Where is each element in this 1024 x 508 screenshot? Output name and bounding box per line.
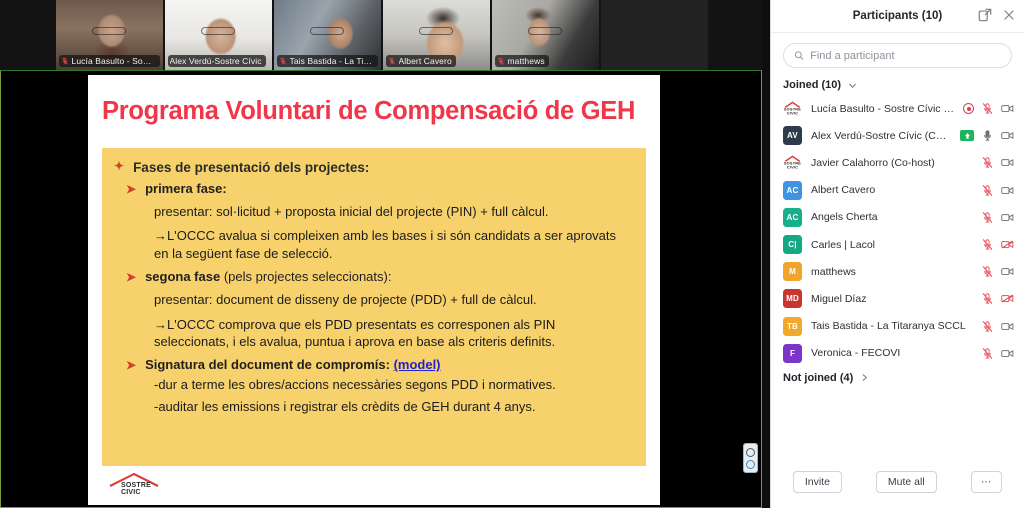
participant-row[interactable]: ACAngels Cherta	[771, 204, 1024, 231]
face-overlay	[310, 27, 344, 35]
slide-subbullet-phase1: ➤ primera fase:	[126, 181, 638, 196]
camera-off-icon[interactable]	[1001, 184, 1014, 197]
logo-text: SOSTRE CIVIC	[121, 482, 151, 497]
mic-muted-icon[interactable]	[981, 265, 994, 278]
participant-controls[interactable]	[981, 265, 1014, 278]
zoom-meeting-window: Lucía Basulto - Sostre …Alex Verdú-Sostr…	[0, 0, 1024, 508]
participant-row[interactable]: TBTais Bastida - La Titaranya SCCL	[771, 313, 1024, 340]
participant-name: Javier Calahorro (Co-host)	[811, 157, 972, 169]
annotate-pointer-icon[interactable]	[746, 448, 755, 457]
camera-off-icon[interactable]	[1001, 156, 1014, 169]
avatar: AC	[783, 208, 802, 227]
avatar-initials: AV	[787, 131, 798, 140]
video-tile[interactable]: Albert Cavero	[383, 0, 490, 70]
model-document-link[interactable]: (model)	[394, 357, 441, 372]
invite-button[interactable]: Invite	[793, 471, 842, 493]
avatar: C|	[783, 235, 802, 254]
tile-participant-name: Alex Verdú-Sostre Cívic	[170, 56, 262, 66]
participant-name: Tais Bastida - La Titaranya SCCL	[811, 320, 972, 332]
tile-name-badge: Lucía Basulto - Sostre …	[59, 55, 160, 67]
mic-on-icon[interactable]	[981, 129, 994, 142]
avatar: SOSTRECIVIC	[783, 99, 802, 118]
participant-row[interactable]: SOSTRECIVICLucía Basulto - Sostre Cívic …	[771, 95, 1024, 122]
participant-controls[interactable]	[981, 156, 1014, 169]
svg-text:CIVIC: CIVIC	[787, 110, 798, 115]
participant-name: Carles | Lacol	[811, 239, 972, 251]
tile-name-badge: Alex Verdú-Sostre Cívic	[168, 55, 266, 67]
mic-muted-icon[interactable]	[981, 102, 994, 115]
participant-name: matthews	[811, 266, 972, 278]
not-joined-label: Not joined (4)	[783, 372, 853, 384]
participant-row[interactable]: FVeronica - FECOVI	[771, 340, 1024, 367]
camera-off-icon[interactable]	[1001, 211, 1014, 224]
joined-label: Joined (10)	[783, 79, 841, 91]
avatar-initials: F	[790, 349, 795, 358]
face-overlay	[201, 27, 235, 35]
search-section	[771, 33, 1024, 74]
participant-name: Albert Cavero	[811, 184, 972, 196]
tile-name-badge: matthews	[495, 55, 549, 67]
joined-section-header[interactable]: Joined (10)	[771, 74, 1024, 95]
avatar-initials: AC	[787, 186, 799, 195]
tile-participant-name: matthews	[508, 56, 545, 66]
tile-participant-name: Lucía Basulto - Sostre …	[72, 56, 156, 66]
video-tile-partial[interactable]	[601, 0, 708, 70]
sostre-civic-avatar-logo: SOSTRECIVIC	[783, 99, 802, 118]
participant-controls[interactable]	[981, 320, 1014, 333]
avatar-initials: TB	[787, 322, 798, 331]
participant-name: Veronica - FECOVI	[811, 347, 972, 359]
phase1-paragraph-2: →L'OCCC avalua si compleixen amb les bas…	[154, 227, 626, 262]
participant-name: Alex Verdú-Sostre Cívic (Co-host)	[811, 130, 951, 142]
tile-participant-name: Tais Bastida - La Titara…	[290, 56, 374, 66]
tile-participant-name: Albert Cavero	[399, 56, 452, 66]
camera-off-icon[interactable]	[1001, 129, 1014, 142]
participant-name: Lucía Basulto - Sostre Cívic (Host, me)	[811, 103, 954, 115]
participant-name: Miguel Díaz	[811, 293, 972, 305]
participants-panel: Participants (10)	[770, 0, 1024, 508]
mic-muted-icon[interactable]	[981, 238, 994, 251]
participant-row[interactable]: C|Carles | Lacol	[771, 231, 1024, 258]
mic-muted-icon[interactable]	[981, 292, 994, 305]
avatar-initials: C|	[788, 240, 796, 249]
mic-muted-icon[interactable]	[981, 320, 994, 333]
participant-controls[interactable]	[960, 129, 1014, 142]
mic-muted-icon[interactable]	[981, 347, 994, 360]
face-overlay	[92, 27, 126, 35]
phase1-paragraph-1: presentar: sol·licitud + proposta inicia…	[154, 203, 626, 220]
svg-text:CIVIC: CIVIC	[787, 165, 798, 170]
participants-panel-header: Participants (10)	[771, 0, 1024, 33]
avatar: AC	[783, 181, 802, 200]
slide-content-box: ✦ Fases de presentació dels projectes: ➤…	[102, 148, 646, 466]
phase3-paragraph-1: -dur a terme les obres/accions necessàri…	[154, 376, 626, 393]
presentation-slide: Programa Voluntari de Compensació de GEH…	[88, 75, 660, 505]
slide-heading-text: Fases de presentació dels projectes:	[133, 160, 369, 175]
participant-row[interactable]: Mmatthews	[771, 258, 1024, 285]
avatar: SOSTRECIVIC	[783, 153, 802, 172]
participant-row[interactable]: ACAlbert Cavero	[771, 177, 1024, 204]
chevron-right-icon[interactable]	[860, 373, 869, 382]
video-tile[interactable]: Alex Verdú-Sostre Cívic	[165, 0, 272, 70]
arrow-bullet-icon: ➤	[126, 270, 136, 284]
avatar: MD	[783, 289, 802, 308]
not-joined-section-header[interactable]: Not joined (4)	[771, 367, 1024, 388]
avatar: M	[783, 262, 802, 281]
slide-subbullet-phase2: ➤ segona fase (pels projectes selecciona…	[126, 269, 638, 284]
participant-controls[interactable]	[963, 102, 1014, 115]
avatar-initials: M	[789, 267, 796, 276]
tile-name-badge: Tais Bastida - La Titara…	[277, 55, 378, 67]
diamond-bullet-icon: ✦	[114, 160, 124, 175]
phase3-label: Signatura del document de compromís:	[145, 357, 390, 372]
slide-bullet-heading: ✦ Fases de presentació dels projectes:	[114, 160, 638, 175]
camera-off-icon[interactable]	[1001, 265, 1014, 278]
annotate-tool-icon[interactable]	[746, 460, 755, 469]
avatar-initials: AC	[787, 213, 799, 222]
camera-stopped-icon[interactable]	[1001, 238, 1014, 251]
close-icon[interactable]	[1002, 8, 1016, 22]
avatar: AV	[783, 126, 802, 145]
participant-controls[interactable]	[981, 184, 1014, 197]
avatar: F	[783, 344, 802, 363]
phase2-paragraph-2: →L'OCCC comprova que els PDD presentats …	[154, 316, 626, 351]
participant-name: Angels Cherta	[811, 211, 972, 223]
video-tile[interactable]: Tais Bastida - La Titara…	[274, 0, 381, 70]
share-screen-badge-icon	[960, 130, 974, 141]
participant-controls[interactable]	[981, 238, 1014, 251]
video-tile[interactable]: matthews	[492, 0, 599, 70]
avatar: TB	[783, 317, 802, 336]
participant-row[interactable]: MDMiguel Díaz	[771, 285, 1024, 312]
participants-panel-footer: Invite Mute all ⋯	[771, 462, 1024, 508]
avatar-initials: MD	[786, 294, 799, 303]
chevron-down-icon[interactable]	[848, 81, 857, 90]
popout-icon[interactable]	[978, 8, 992, 22]
search-icon	[794, 50, 804, 61]
panel-title: Participants (10)	[853, 10, 942, 22]
video-tile[interactable]: Lucía Basulto - Sostre …	[56, 0, 163, 70]
participants-list: SOSTRECIVICLucía Basulto - Sostre Cívic …	[771, 95, 1024, 367]
camera-off-icon[interactable]	[1001, 320, 1014, 333]
slide-title: Programa Voluntari de Compensació de GEH	[102, 97, 647, 125]
mic-muted-icon[interactable]	[61, 56, 69, 66]
phase2-label-rest: (pels projectes seleccionats):	[220, 269, 391, 284]
face-overlay	[419, 27, 453, 35]
participant-controls[interactable]	[981, 347, 1014, 360]
phase1-label: primera fase:	[145, 181, 227, 196]
camera-stopped-icon[interactable]	[1001, 292, 1014, 305]
arrow-bullet-icon: ➤	[126, 182, 136, 196]
phase2-label: segona fase	[145, 269, 220, 284]
participant-filmstrip: Lucía Basulto - Sostre …Alex Verdú-Sostr…	[0, 0, 762, 70]
more-options-button[interactable]: ⋯	[971, 471, 1003, 493]
camera-off-icon[interactable]	[1001, 102, 1014, 115]
mic-muted-icon[interactable]	[981, 184, 994, 197]
tile-name-badge: Albert Cavero	[386, 55, 456, 67]
participant-controls[interactable]	[981, 211, 1014, 224]
recording-indicator-icon	[963, 103, 974, 114]
search-box[interactable]	[783, 43, 1012, 68]
sostre-civic-logo: SOSTRE CIVIC	[108, 471, 160, 501]
participant-row[interactable]: AVAlex Verdú-Sostre Cívic (Co-host)	[771, 122, 1024, 149]
slide-subbullet-phase3: ➤ Signatura del document de compromís: (…	[126, 357, 638, 372]
phase3-paragraph-2: -auditar les emissions i registrar els c…	[154, 398, 626, 415]
participant-controls[interactable]	[981, 292, 1014, 305]
phase2-paragraph-1: presentar: document de disseny de projec…	[154, 291, 626, 308]
participant-row[interactable]: SOSTRECIVICJavier Calahorro (Co-host)	[771, 149, 1024, 176]
mute-all-button[interactable]: Mute all	[876, 471, 937, 493]
camera-off-icon[interactable]	[1001, 347, 1014, 360]
shared-screen-region: Programa Voluntari de Compensació de GEH…	[0, 70, 762, 508]
arrow-bullet-icon: ➤	[126, 358, 136, 372]
mic-muted-icon[interactable]	[497, 56, 505, 66]
mic-muted-icon[interactable]	[981, 156, 994, 169]
face-overlay	[528, 27, 562, 35]
mic-muted-icon[interactable]	[981, 211, 994, 224]
sostre-civic-avatar-logo: SOSTRECIVIC	[783, 153, 802, 172]
annotation-floating-controls[interactable]	[743, 443, 758, 473]
mic-muted-icon[interactable]	[279, 56, 287, 66]
mic-muted-icon[interactable]	[388, 56, 396, 66]
search-input[interactable]	[810, 50, 1001, 62]
